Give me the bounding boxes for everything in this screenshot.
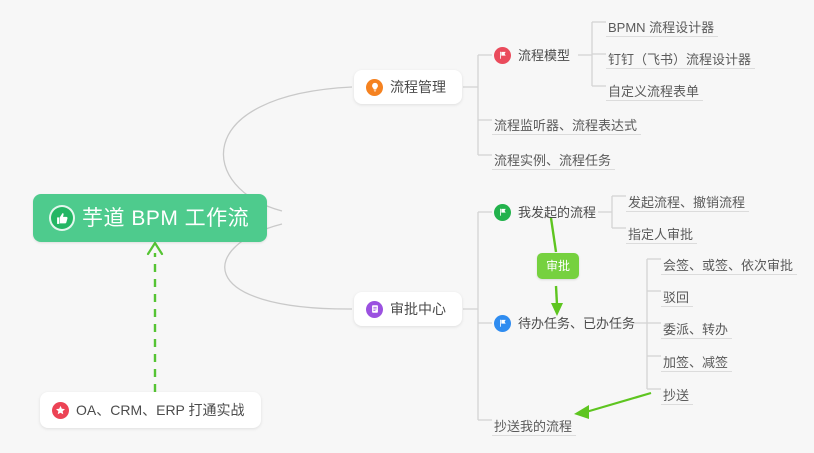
- branch-label: 审批中心: [390, 302, 446, 316]
- leaf-label: 发起流程、撤销流程: [628, 196, 745, 209]
- node-my-initiated-process[interactable]: 我发起的流程: [492, 200, 598, 224]
- practice-link-arrow: [148, 243, 162, 392]
- branch-label: 流程管理: [390, 80, 446, 94]
- approval-tag-node[interactable]: 审批: [537, 253, 579, 279]
- lightbulb-icon: [366, 79, 383, 96]
- thumbs-up-icon: [51, 207, 73, 229]
- leaf-label: 抄送: [663, 389, 689, 402]
- leaf-label: 会签、或签、依次审批: [663, 259, 793, 272]
- node-label: 我发起的流程: [518, 206, 596, 219]
- mindmap-canvas: 芋道 BPM 工作流 OA、CRM、ERP 打通实战 流程管理: [0, 0, 814, 453]
- leaf-dingtalk-feishu-designer[interactable]: 钉钉（飞书）流程设计器: [606, 40, 755, 69]
- leaf-label: 指定人审批: [628, 228, 693, 241]
- leaf-label: 流程监听器、流程表达式: [494, 119, 637, 132]
- practice-node[interactable]: OA、CRM、ERP 打通实战: [40, 392, 261, 428]
- leaf-label: 流程实例、流程任务: [494, 154, 611, 167]
- cc-flow-arrow: [574, 393, 651, 419]
- flag-green-icon: [494, 204, 511, 221]
- leaf-bpmn-designer[interactable]: BPMN 流程设计器: [606, 8, 718, 37]
- node-todo-done-tasks[interactable]: 待办任务、已办任务: [492, 311, 637, 335]
- leaf-process-listener-expression[interactable]: 流程监听器、流程表达式: [492, 106, 641, 135]
- leaf-cc[interactable]: 抄送: [661, 376, 693, 405]
- leaf-countersign-or-sequential[interactable]: 会签、或签、依次审批: [661, 246, 797, 275]
- practice-label: OA、CRM、ERP 打通实战: [76, 403, 245, 417]
- document-purple-icon: [366, 301, 383, 318]
- leaf-reject[interactable]: 驳回: [661, 278, 693, 307]
- leaf-delegate-transfer[interactable]: 委派、转办: [661, 310, 732, 339]
- leaf-process-instance-task[interactable]: 流程实例、流程任务: [492, 141, 615, 170]
- node-label: 待办任务、已办任务: [518, 317, 635, 330]
- leaf-label: 自定义流程表单: [608, 85, 699, 98]
- leaf-label: 加签、减签: [663, 356, 728, 369]
- node-label: 流程模型: [518, 49, 570, 62]
- leaf-add-remove-sign[interactable]: 加签、减签: [661, 343, 732, 372]
- leaf-label: BPMN 流程设计器: [608, 21, 714, 34]
- root-label: 芋道 BPM 工作流: [82, 208, 249, 229]
- leaf-label: 驳回: [663, 291, 689, 304]
- root-node[interactable]: 芋道 BPM 工作流: [33, 194, 267, 242]
- branch-approval-center[interactable]: 审批中心: [354, 292, 462, 326]
- flag-red-icon: [494, 47, 511, 64]
- star-icon: [52, 402, 69, 419]
- leaf-label: 委派、转办: [663, 323, 728, 336]
- leaf-start-cancel-process[interactable]: 发起流程、撤销流程: [626, 183, 749, 212]
- node-process-model[interactable]: 流程模型: [492, 43, 572, 67]
- leaf-custom-process-form[interactable]: 自定义流程表单: [606, 72, 703, 101]
- leaf-assignee-approval[interactable]: 指定人审批: [626, 215, 697, 244]
- branch-process-management[interactable]: 流程管理: [354, 70, 462, 104]
- approval-tag-label: 审批: [546, 260, 570, 272]
- leaf-label: 钉钉（飞书）流程设计器: [608, 53, 751, 66]
- leaf-label: 抄送我的流程: [494, 420, 572, 433]
- leaf-cc-to-me-process[interactable]: 抄送我的流程: [492, 407, 576, 436]
- flag-blue-icon: [494, 315, 511, 332]
